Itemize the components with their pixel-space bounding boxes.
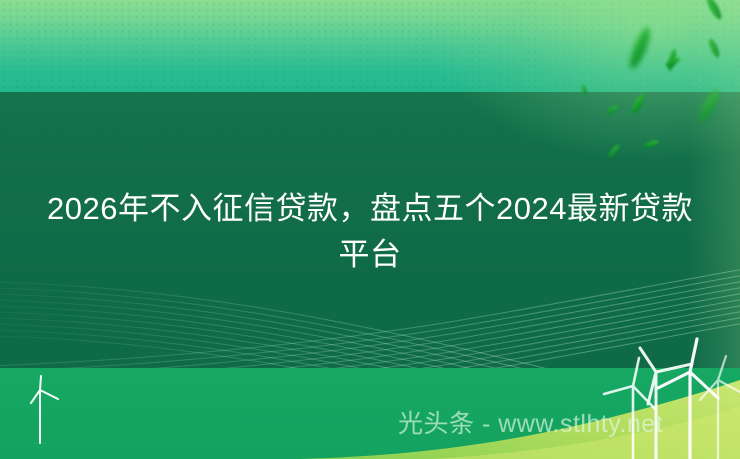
watermark: 光头条 - www.stlhty.net — [398, 406, 663, 442]
title-line-1: 2026年不入征信贷款，盘点五个2024 — [47, 191, 567, 226]
page-title: 2026年不入征信贷款，盘点五个2024最新贷款平台 — [0, 186, 740, 278]
poster-canvas: 光头条 - www.stlhty.net 2026年不入征信贷款，盘点五个202… — [0, 0, 740, 459]
